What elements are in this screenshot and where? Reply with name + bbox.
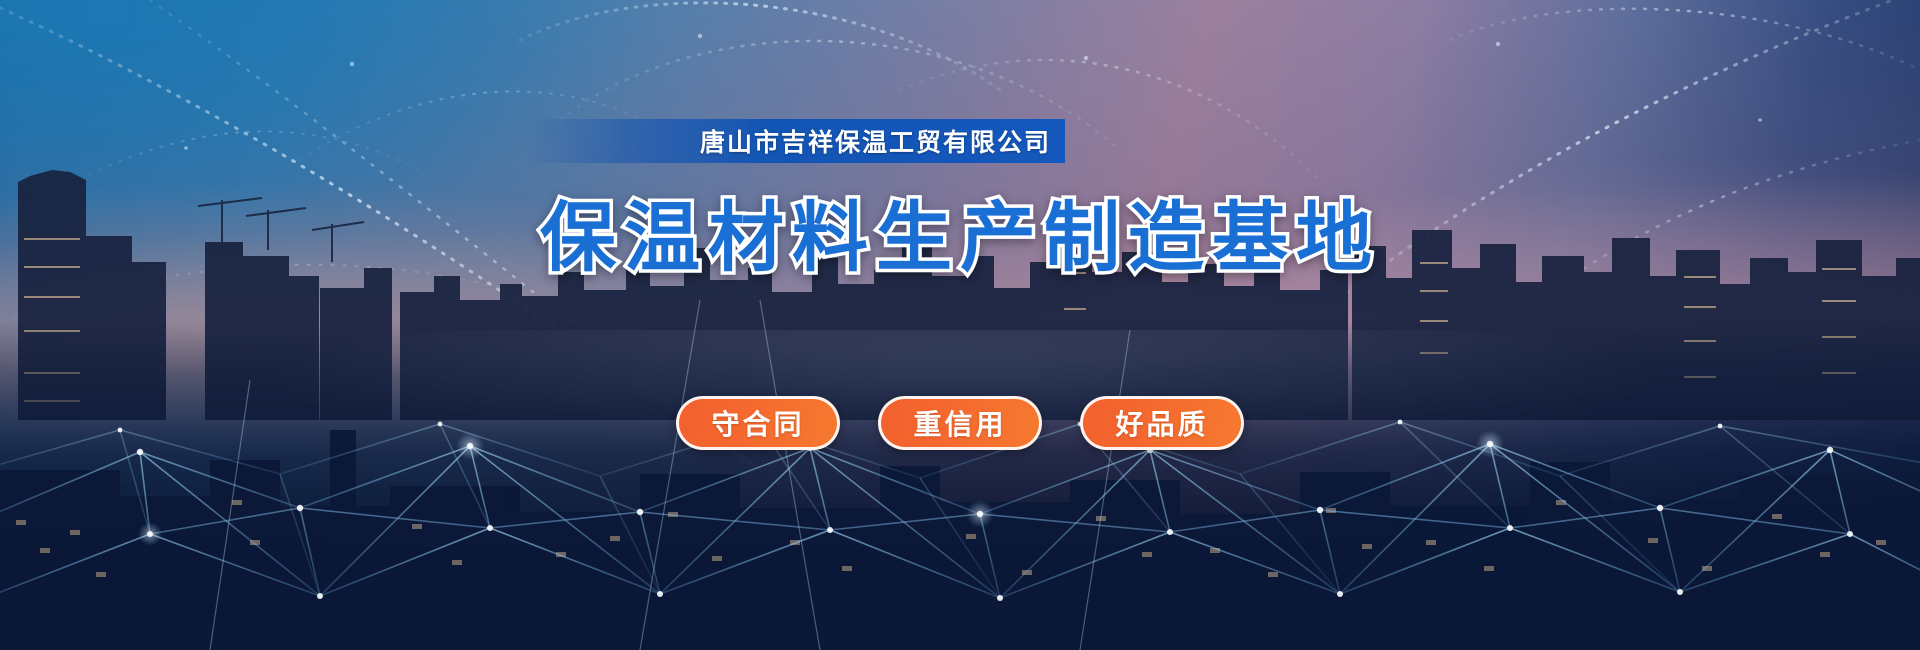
hero-banner: 唐山市吉祥保温工贸有限公司 保温材料生产制造基地 守合同 重信用 好品质 <box>0 0 1920 650</box>
badge-label: 重信用 <box>913 403 1006 443</box>
badge-label: 好品质 <box>1115 403 1208 443</box>
hero-content: 唐山市吉祥保温工贸有限公司 保温材料生产制造基地 守合同 重信用 好品质 <box>0 0 1920 650</box>
badge-row: 守合同 重信用 好品质 <box>0 396 1920 450</box>
badge-label: 守合同 <box>711 403 804 443</box>
page-title: 保温材料生产制造基地 <box>540 176 1380 286</box>
badge-hao-pin-zhi[interactable]: 好品质 <box>1080 396 1244 450</box>
company-name-banner: 唐山市吉祥保温工贸有限公司 <box>525 119 1065 163</box>
company-name-text: 唐山市吉祥保温工贸有限公司 <box>700 123 1051 159</box>
badge-zhong-xin-yong[interactable]: 重信用 <box>878 396 1042 450</box>
headline-row: 保温材料生产制造基地 <box>0 176 1920 286</box>
badge-shou-he-tong[interactable]: 守合同 <box>676 396 840 450</box>
